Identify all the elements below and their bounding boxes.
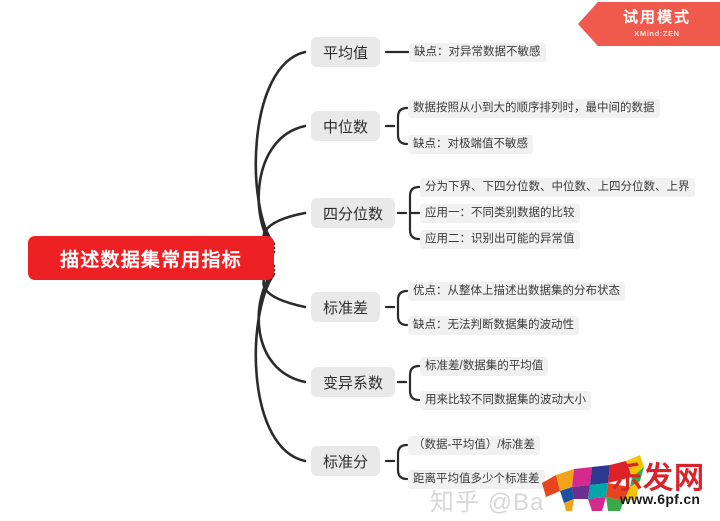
zhihu-watermark: 知乎 @Ba [430,482,544,517]
leaf-label-2-2: 应用二：识别出可能的异常值 [425,234,575,246]
leaf-label-2-1: 应用一：不同类别数据的比较 [425,208,575,220]
leaf-node-2-0[interactable]: 分为下界、下四分位数、中位数、上四分位数、上界 [420,178,695,197]
topic-node-0[interactable]: 平均值 [311,37,380,67]
topic-node-1[interactable]: 中位数 [311,111,380,141]
leaf-node-0-0[interactable]: 缺点：对异常数据不敏感 [409,43,546,62]
root-topic[interactable]: 描述数据集常用指标 [28,236,274,280]
wire-root-to-branch-4 [259,270,305,382]
trial-mode-banner[interactable]: 试用模式 XMind:ZEN [578,2,720,46]
leaf-label-0-0: 缺点：对异常数据不敏感 [414,47,541,59]
topic-label-5: 标准分 [323,451,368,472]
leaf-node-1-1[interactable]: 缺点：对极端值不敏感 [408,135,533,154]
leaf-node-2-2[interactable]: 应用二：识别出可能的异常值 [420,230,580,249]
wire-branch-4-children [410,366,419,400]
wire-branch-2-children [410,187,419,239]
wire-root-to-branch-5 [256,274,305,461]
topic-label-1: 中位数 [323,116,368,137]
leaf-label-1-1: 缺点：对极端值不敏感 [413,139,528,151]
site-watermark-url: www.6pf.cn [620,491,700,507]
leaf-label-4-1: 用来比较不同数据集的波动大小 [425,395,586,407]
wire-branch-3-children [398,291,407,325]
root-topic-label: 描述数据集常用指标 [60,245,242,272]
topic-node-3[interactable]: 标准差 [311,292,380,322]
wire-root-to-branch-1 [259,126,305,248]
leaf-label-1-0: 数据按照从小到大的顺序排列时，最中间的数据 [413,103,655,115]
leaf-node-5-0[interactable]: （数据-平均值）/标准差 [408,436,540,455]
leaf-node-1-0[interactable]: 数据按照从小到大的顺序排列时，最中间的数据 [408,99,660,118]
topic-label-3: 标准差 [323,297,368,318]
topic-node-4[interactable]: 变异系数 [311,367,395,397]
site-watermark: 乐发网 www.6pf.cn [540,455,720,521]
wire-branch-5-children [398,445,407,479]
leaf-label-3-0: 优点：从整体上描述出数据集的分布状态 [413,286,620,298]
leaf-label-2-0: 分为下界、下四分位数、中位数、上四分位数、上界 [425,182,690,194]
topic-label-4: 变异系数 [323,372,383,393]
leaf-label-4-0: 标准差/数据集的平均值 [425,361,543,373]
trial-mode-title: 试用模式 [623,10,691,27]
leaf-node-2-1[interactable]: 应用一：不同类别数据的比较 [420,204,580,223]
topic-label-2: 四分位数 [323,203,383,224]
topic-node-5[interactable]: 标准分 [311,446,380,476]
leaf-node-4-0[interactable]: 标准差/数据集的平均值 [420,357,548,376]
topic-node-2[interactable]: 四分位数 [311,198,395,228]
leaf-node-4-1[interactable]: 用来比较不同数据集的波动大小 [420,391,591,410]
leaf-label-3-1: 缺点：无法判断数据集的波动性 [413,320,574,332]
leaf-node-3-0[interactable]: 优点：从整体上描述出数据集的分布状态 [408,282,625,301]
xmind-brand-label: XMind:ZEN [634,29,679,38]
leaf-node-3-1[interactable]: 缺点：无法判断数据集的波动性 [408,316,579,335]
wire-root-to-branch-0 [256,52,305,244]
topic-label-0: 平均值 [323,42,368,63]
mindmap-canvas[interactable]: 描述数据集常用指标 平均值 缺点：对异常数据不敏感 中位数 数据按照从小到大的顺… [0,0,720,521]
wire-branch-1-children [398,108,407,144]
leaf-label-5-0: （数据-平均值）/标准差 [413,440,535,452]
